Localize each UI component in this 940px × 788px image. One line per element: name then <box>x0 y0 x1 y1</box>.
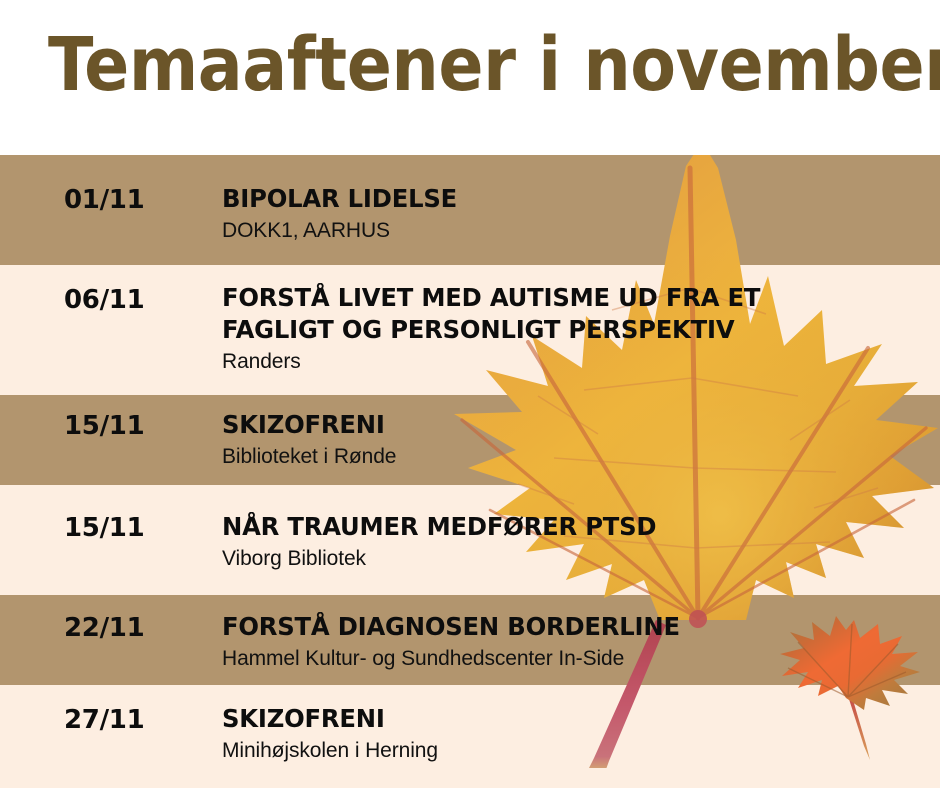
event-body: BIPOLAR LIDELSE DOKK1, AARHUS <box>222 183 932 245</box>
event-title: SKIZOFRENI <box>222 703 911 735</box>
event-title: BIPOLAR LIDELSE <box>222 183 911 215</box>
event-row-3[interactable]: 15/11 SKIZOFRENI Biblioteket i Rønde <box>0 395 940 485</box>
event-date: 27/11 <box>64 705 144 735</box>
event-body: NÅR TRAUMER MEDFØRER PTSD Viborg Bibliot… <box>222 511 932 573</box>
event-body: FORSTÅ LIVET MED AUTISME UD FRA ET FAGLI… <box>222 282 932 376</box>
event-title: FORSTÅ DIAGNOSEN BORDERLINE <box>222 611 911 643</box>
poster-canvas: Temaaftener i november 01/11 BIPOLAR LID… <box>0 0 940 788</box>
event-row-5[interactable]: 22/11 FORSTÅ DIAGNOSEN BORDERLINE Hammel… <box>0 595 940 685</box>
event-date: 01/11 <box>64 185 144 215</box>
event-title: FORSTÅ LIVET MED AUTISME UD FRA ET FAGLI… <box>222 282 911 346</box>
event-body: FORSTÅ DIAGNOSEN BORDERLINE Hammel Kultu… <box>222 611 932 673</box>
event-title: SKIZOFRENI <box>222 409 911 441</box>
event-date: 22/11 <box>64 613 144 643</box>
event-row-2[interactable]: 06/11 FORSTÅ LIVET MED AUTISME UD FRA ET… <box>0 265 940 395</box>
title-area: Temaaftener i november <box>0 0 940 155</box>
event-place: Hammel Kultur- og Sundhedscenter In-Side <box>222 645 932 673</box>
event-place: Minihøjskolen i Herning <box>222 737 932 765</box>
event-title: NÅR TRAUMER MEDFØRER PTSD <box>222 511 911 543</box>
event-place: Biblioteket i Rønde <box>222 443 932 471</box>
page-title: Temaaftener i november <box>48 22 940 108</box>
event-date: 06/11 <box>64 285 144 315</box>
event-date: 15/11 <box>64 411 144 441</box>
event-row-6[interactable]: 27/11 SKIZOFRENI Minihøjskolen i Herning <box>0 685 940 788</box>
event-body: SKIZOFRENI Minihøjskolen i Herning <box>222 703 932 765</box>
event-place: DOKK1, AARHUS <box>222 217 932 245</box>
event-date: 15/11 <box>64 513 144 543</box>
event-row-1[interactable]: 01/11 BIPOLAR LIDELSE DOKK1, AARHUS <box>0 155 940 265</box>
event-place: Viborg Bibliotek <box>222 545 932 573</box>
event-body: SKIZOFRENI Biblioteket i Rønde <box>222 409 932 471</box>
event-place: Randers <box>222 348 932 376</box>
event-row-4[interactable]: 15/11 NÅR TRAUMER MEDFØRER PTSD Viborg B… <box>0 485 940 595</box>
